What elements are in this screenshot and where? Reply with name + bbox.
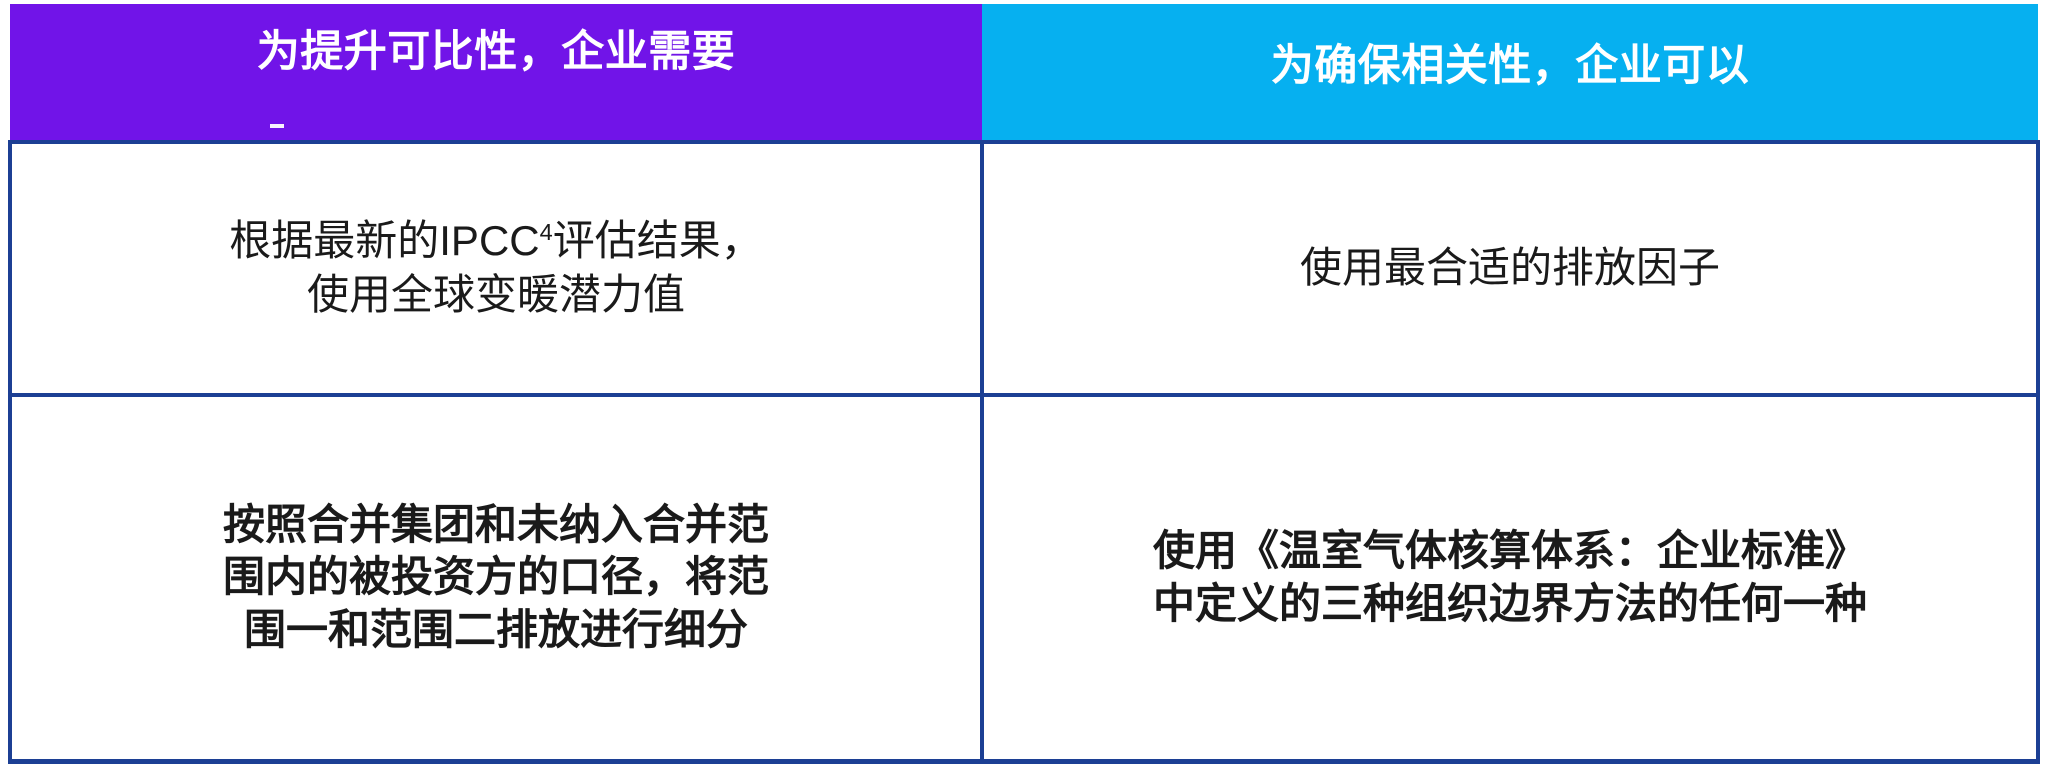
comparison-table: 为提升可比性，企业需要 为确保相关性，企业可以 根据最新的IPCC4评估结果， … xyxy=(8,4,2040,764)
cell-comparability-gwp: 根据最新的IPCC4评估结果， 使用全球变暖潜力值 xyxy=(10,142,982,395)
ipcc-prefix-text: 根据最新的IPCC xyxy=(229,217,539,264)
cell-line-1: 按照合并集团和未纳入合并范 xyxy=(38,499,954,552)
column-header-relevance-label: 为确保相关性，企业可以 xyxy=(982,44,2038,99)
cell-comparability-scope-breakdown: 按照合并集团和未纳入合并范 围内的被投资方的口径，将范 围一和范围二排放进行细分 xyxy=(10,395,982,762)
column-header-comparability: 为提升可比性，企业需要 xyxy=(10,4,982,142)
cell-relevance-emission-factor-text: 使用最合适的排放因子 xyxy=(984,241,2036,296)
cell-line-3: 围一和范围二排放进行细分 xyxy=(38,604,954,657)
table-row: 根据最新的IPCC4评估结果， 使用全球变暖潜力值 使用最合适的排放因子 xyxy=(10,142,2038,395)
cell-line-2: 中定义的三种组织边界方法的任何一种 xyxy=(1010,578,2010,631)
cell-line-2: 围内的被投资方的口径，将范 xyxy=(38,551,954,604)
dash-mark-icon xyxy=(270,124,284,128)
cell-relevance-org-boundary-text: 使用《温室气体核算体系：企业标准》 中定义的三种组织边界方法的任何一种 xyxy=(984,525,2036,631)
cell-relevance-emission-factor: 使用最合适的排放因子 xyxy=(982,142,2038,395)
cell-comparability-gwp-text: 根据最新的IPCC4评估结果， 使用全球变暖潜力值 xyxy=(12,214,980,323)
ipcc-suffix-text: 评估结果， xyxy=(553,217,763,264)
comparison-table-container: 为提升可比性，企业需要 为确保相关性，企业可以 根据最新的IPCC4评估结果， … xyxy=(0,0,2048,771)
cell-relevance-org-boundary: 使用《温室气体核算体系：企业标准》 中定义的三种组织边界方法的任何一种 xyxy=(982,395,2038,762)
cell-line-1: 使用《温室气体核算体系：企业标准》 xyxy=(1010,525,2010,578)
cell-line-1: 使用最合适的排放因子 xyxy=(1010,241,2010,296)
cell-line-2: 使用全球变暖潜力值 xyxy=(38,268,954,323)
column-header-comparability-label: 为提升可比性，企业需要 xyxy=(10,30,982,113)
table-row: 按照合并集团和未纳入合并范 围内的被投资方的口径，将范 围一和范围二排放进行细分… xyxy=(10,395,2038,762)
footnote-marker: 4 xyxy=(540,219,553,245)
cell-comparability-scope-breakdown-text: 按照合并集团和未纳入合并范 围内的被投资方的口径，将范 围一和范围二排放进行细分 xyxy=(12,499,980,658)
table-header-row: 为提升可比性，企业需要 为确保相关性，企业可以 xyxy=(10,4,2038,142)
column-header-relevance: 为确保相关性，企业可以 xyxy=(982,4,2038,142)
